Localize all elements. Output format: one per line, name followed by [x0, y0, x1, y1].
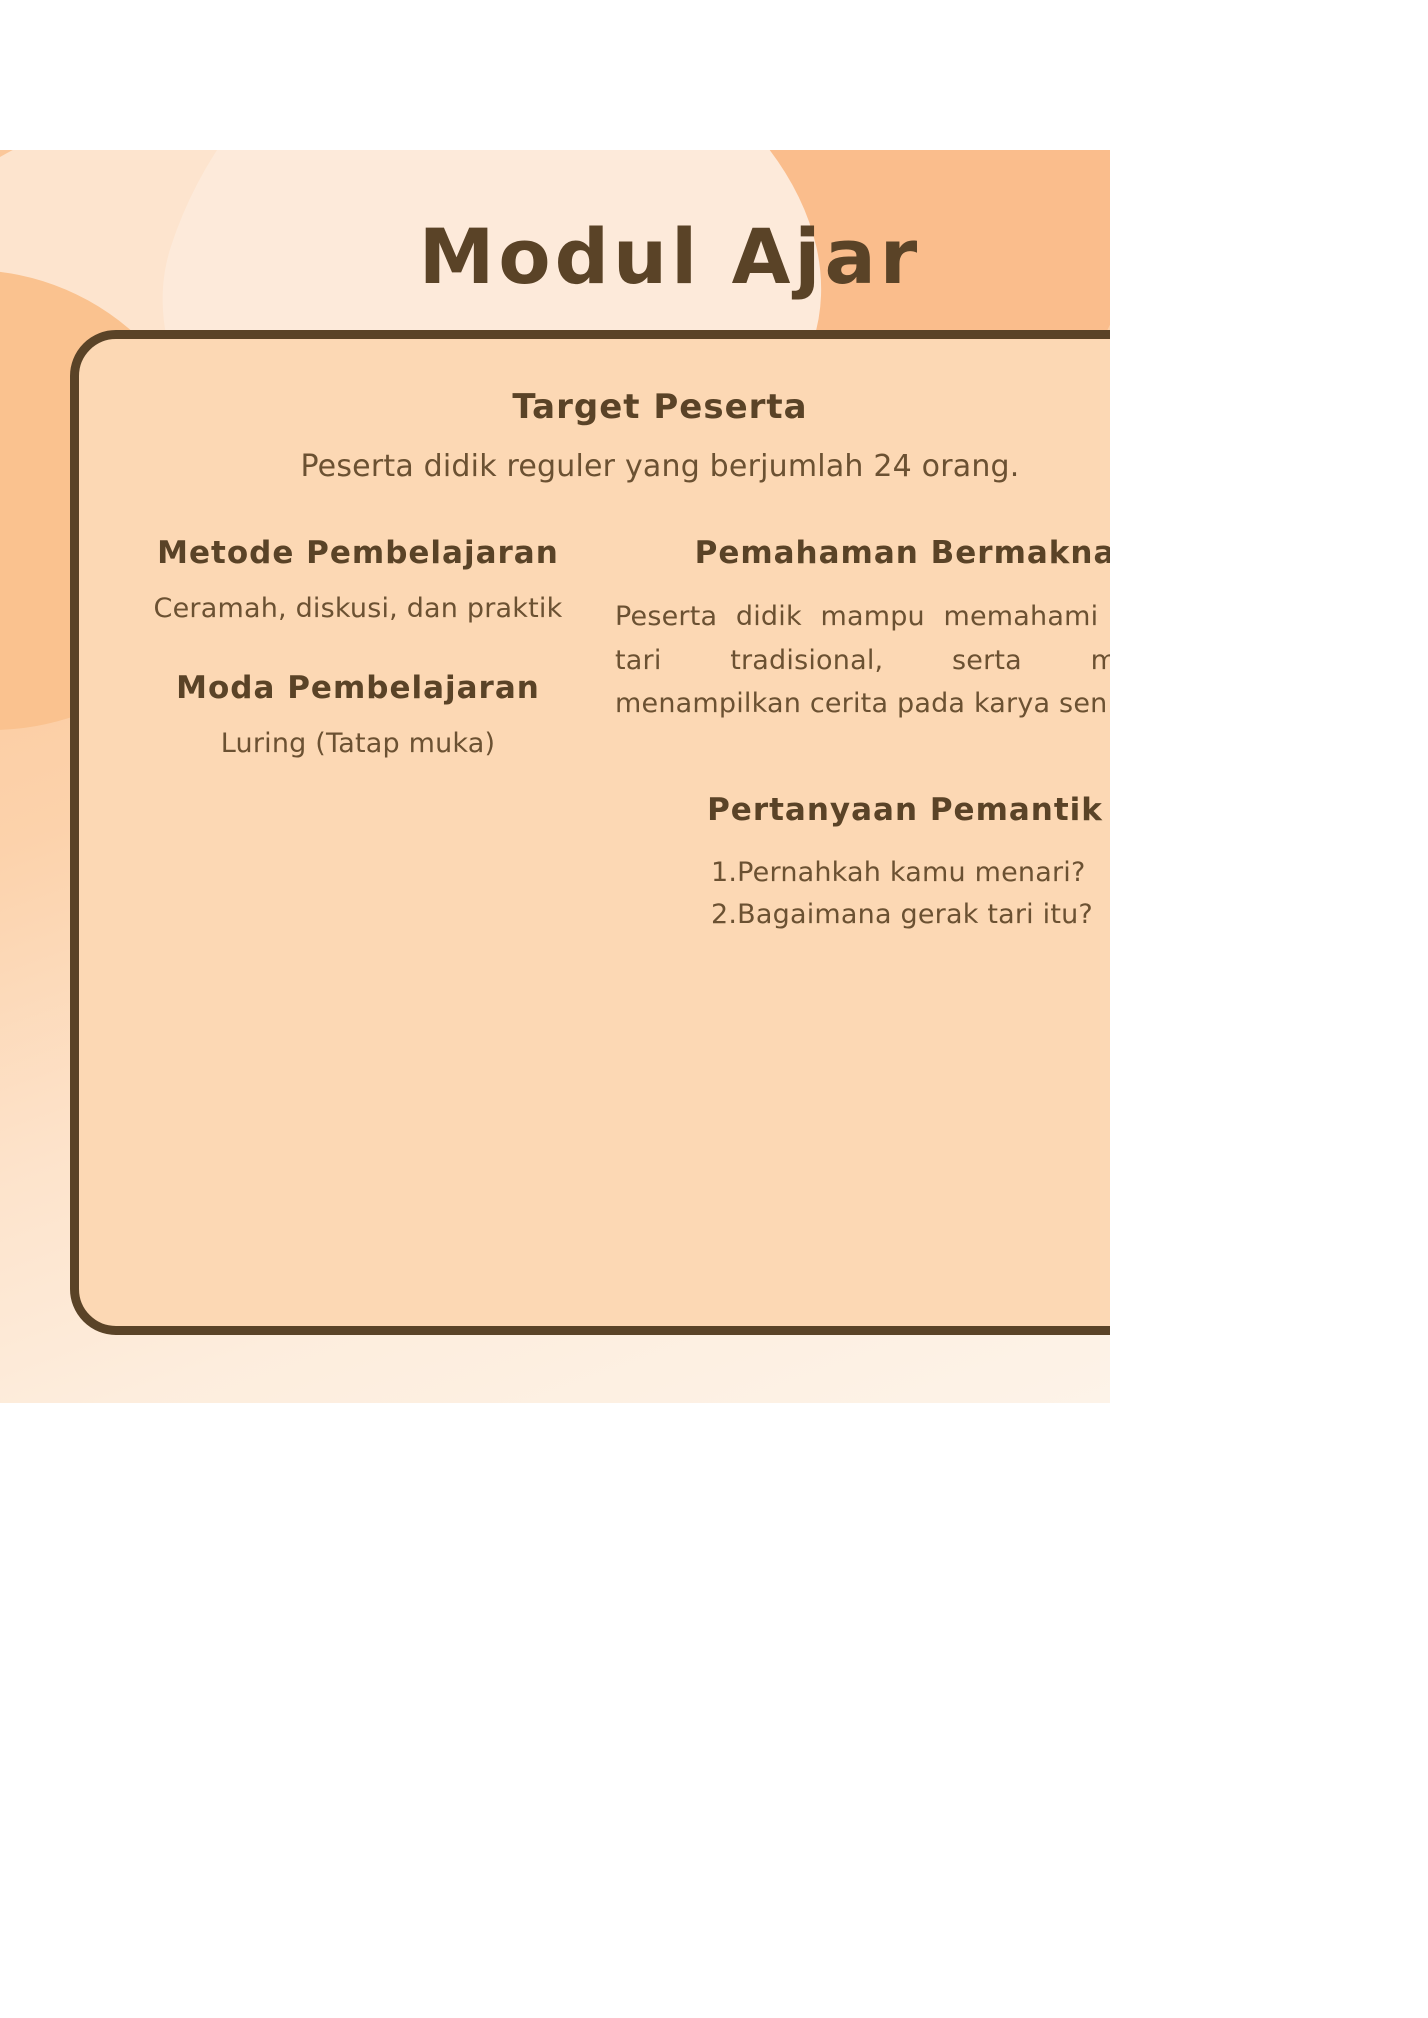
pertanyaan-pemantik-section: Pertanyaan Pemantik 1.Pernahkah kamu men…	[615, 792, 1110, 936]
metode-pembelajaran-section: Metode Pembelajaran Ceramah, diskusi, da…	[125, 535, 591, 624]
pertanyaan-pemantik-list: 1.Pernahkah kamu menari?2.Bagaimana gera…	[615, 852, 1110, 936]
pemahaman-bermakna-body: Peserta didik mampu memahami gerak tari …	[615, 595, 1110, 726]
crop-margin-bottom	[0, 1403, 1428, 2018]
page-title: Modul Ajar	[0, 212, 1110, 301]
right-column: Pemahaman Bermakna Peserta didik mampu m…	[591, 535, 1110, 982]
left-column: Metode Pembelajaran Ceramah, diskusi, da…	[79, 535, 591, 982]
pemahaman-bermakna-heading: Pemahaman Bermakna	[615, 535, 1110, 571]
slide-stage: Modul Ajar Target Peserta Peserta didik …	[0, 150, 1110, 1403]
list-item: 1.Pernahkah kamu menari?	[711, 852, 1110, 894]
metode-pembelajaran-body: Ceramah, diskusi, dan praktik	[125, 593, 591, 624]
target-peserta-section: Target Peserta Peserta didik reguler yan…	[79, 387, 1110, 484]
target-peserta-body: Peserta didik reguler yang berjumlah 24 …	[79, 449, 1110, 484]
moda-pembelajaran-heading: Moda Pembelajaran	[125, 670, 591, 706]
metode-pembelajaran-heading: Metode Pembelajaran	[125, 535, 591, 571]
pemahaman-bermakna-section: Pemahaman Bermakna Peserta didik mampu m…	[615, 535, 1110, 726]
content-columns: Metode Pembelajaran Ceramah, diskusi, da…	[79, 535, 1110, 982]
moda-pembelajaran-section: Moda Pembelajaran Luring (Tatap muka)	[125, 670, 591, 759]
content-card: Target Peserta Peserta didik reguler yan…	[70, 330, 1110, 1335]
list-item: 2.Bagaimana gerak tari itu?	[711, 894, 1110, 936]
target-peserta-heading: Target Peserta	[79, 387, 1110, 427]
moda-pembelajaran-body: Luring (Tatap muka)	[125, 728, 591, 759]
crop-margin-right	[1110, 0, 1428, 2018]
crop-margin-top	[0, 0, 1428, 150]
pertanyaan-pemantik-heading: Pertanyaan Pemantik	[615, 792, 1110, 828]
